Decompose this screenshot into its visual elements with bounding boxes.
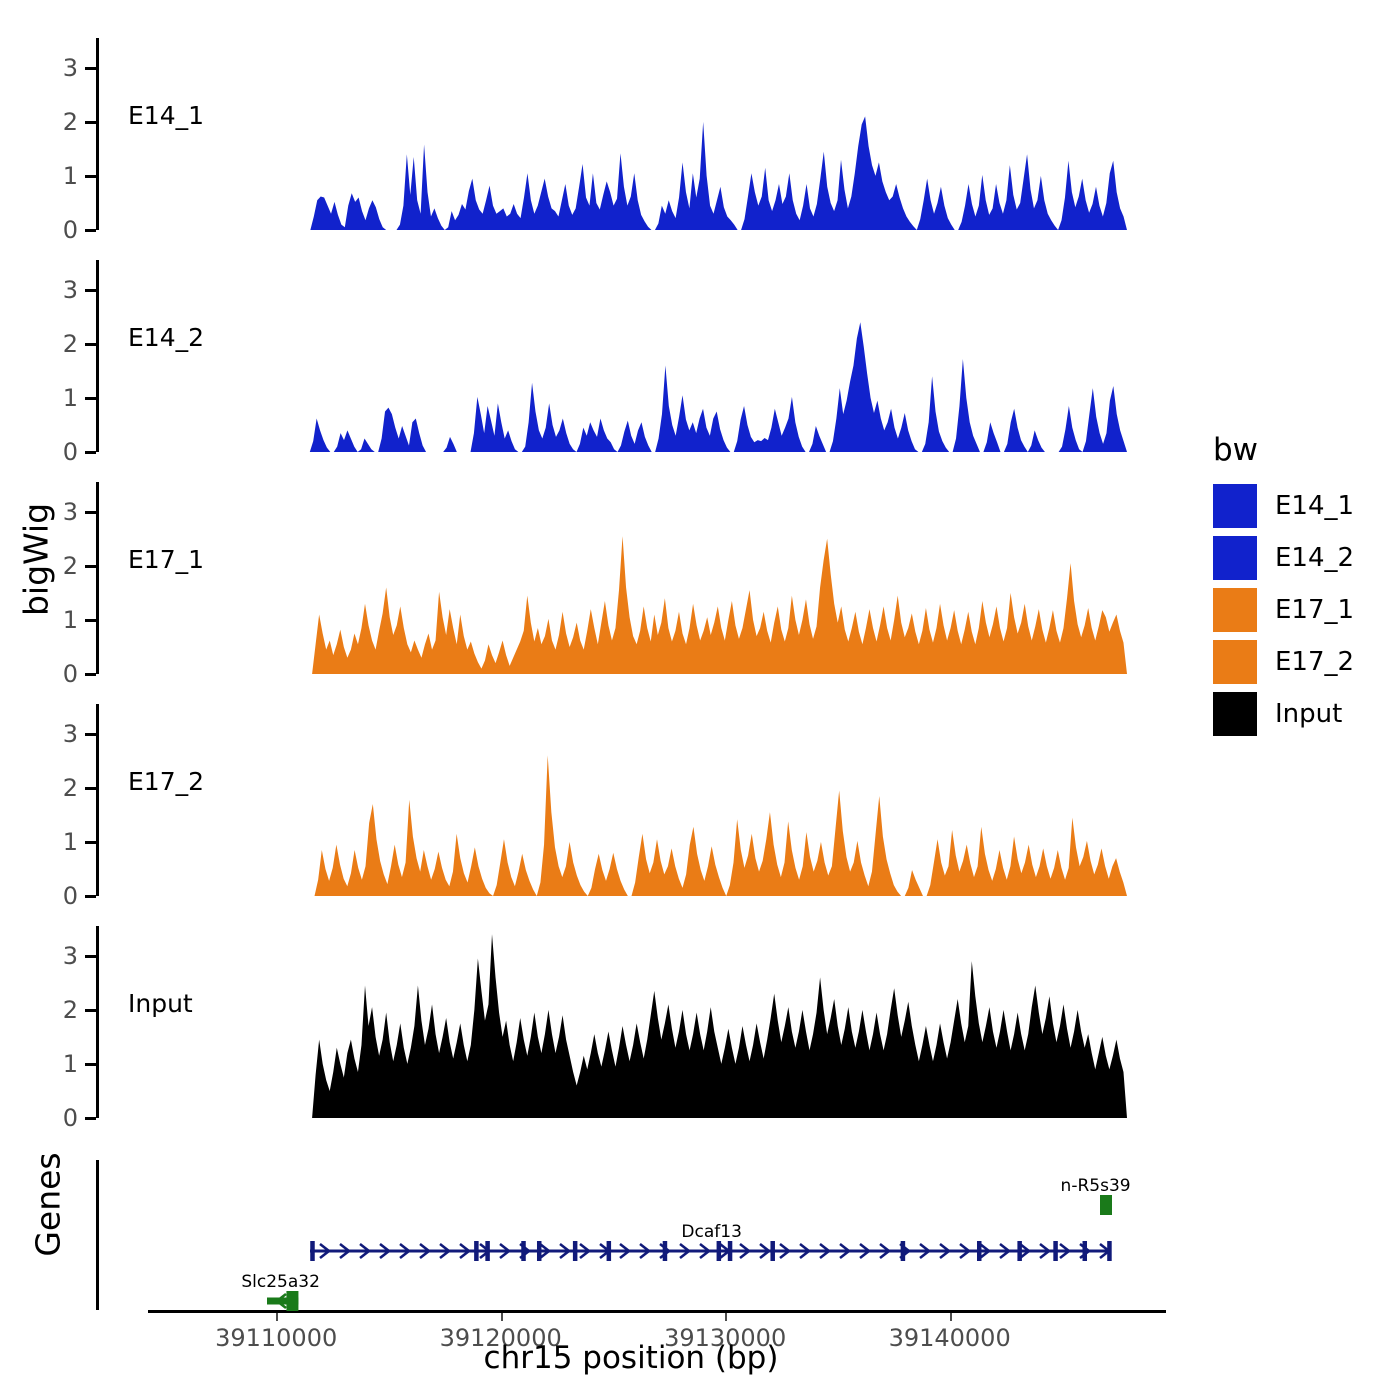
y-tick [85,673,96,676]
y-tick [85,619,96,622]
wig-track-e17_2: 0123E17_2 [96,704,1167,896]
x-tick [501,1313,503,1321]
exon-block [310,1241,314,1261]
exon-block [1082,1241,1087,1261]
y-axis-line [96,260,99,452]
wig-track-e17_1: 0123E17_1 [96,482,1167,674]
y-axis-line [96,482,99,674]
gene-label-dcaf13: Dcaf13 [681,1222,741,1242]
exon-block [900,1241,905,1261]
y-tick [85,511,96,514]
legend-swatch [1213,640,1257,684]
legend-title: bw [1213,432,1258,468]
exon-block [770,1241,775,1261]
y-tick [85,1009,96,1012]
y-axis-line [96,926,99,1118]
exon-block [977,1241,982,1261]
legend-swatch [1213,692,1257,736]
exon-block [1017,1241,1022,1261]
y-tick [85,1117,96,1120]
wig-area [238,116,1127,230]
y-tick-label: 3 [30,942,78,970]
y-tick-label: 1 [30,162,78,190]
track-label: Input [128,989,193,1018]
wig-track-e14_2: 0123E14_2 [96,260,1167,452]
wig-signal-e14_1 [238,38,1131,232]
exon-block [521,1241,526,1261]
x-axis-title: chr15 position (bp) [96,1340,1166,1376]
wig-track-e14_1: 0123E14_1 [96,38,1167,230]
y-tick-label: 2 [30,996,78,1024]
legend-label: E14_2 [1275,543,1354,573]
exon-block [485,1241,490,1261]
y-tick-label: 0 [30,1104,78,1132]
exon-block [537,1241,542,1261]
track-label: E14_1 [128,101,204,130]
y-tick-label: 2 [30,552,78,580]
y-tick [85,955,96,958]
y-tick-label: 3 [30,54,78,82]
wig-track-input: 0123Input [96,926,1167,1118]
wig-signal-input [238,926,1131,1120]
y-tick [85,841,96,844]
exon-block [287,1291,299,1311]
y-tick-label: 2 [30,774,78,802]
wig-signal-e14_2 [238,260,1131,454]
track-label: E17_1 [128,545,204,574]
track-label: E17_2 [128,767,204,796]
y-tick-label: 0 [30,882,78,910]
y-tick [85,733,96,736]
legend-swatch [1213,536,1257,580]
y-tick-label: 1 [30,828,78,856]
y-tick [85,1063,96,1066]
y-tick [85,451,96,454]
wig-signal-e17_2 [238,704,1131,898]
gene-label-n-r5s39: n-R5s39 [1061,1176,1131,1196]
legend-swatch [1213,484,1257,528]
wig-area [238,934,1127,1118]
y-tick [85,343,96,346]
y-tick-label: 0 [30,660,78,688]
x-tick [950,1313,952,1321]
x-tick [725,1313,727,1321]
y-tick [85,787,96,790]
exon-block [573,1241,578,1261]
gene-label-slc25a32: Slc25a32 [241,1272,320,1292]
y-tick [85,565,96,568]
y-axis-line [96,38,99,230]
exon-block [606,1241,611,1261]
y-tick-label: 1 [30,1050,78,1078]
legend-label: E17_2 [1275,647,1354,677]
y-tick [85,121,96,124]
legend-label: E17_1 [1275,595,1354,625]
genes-axis-line [96,1160,99,1310]
track-label: E14_2 [128,323,204,352]
exon-block [663,1241,668,1261]
y-tick [85,175,96,178]
legend-swatch [1213,588,1257,632]
y-tick-label: 1 [30,384,78,412]
exon-block [474,1241,479,1261]
genome-browser-figure: bigWig Genes 0123E14_10123E14_20123E17_1… [0,0,1400,1400]
wig-signal-e17_1 [238,482,1131,676]
y-tick-label: 2 [30,108,78,136]
exon-block [1100,1195,1112,1215]
y-tick [85,397,96,400]
exon-block [728,1241,733,1261]
y-tick-label: 3 [30,498,78,526]
wig-area [238,755,1127,896]
legend-label: E14_1 [1275,491,1354,521]
y-tick-label: 3 [30,720,78,748]
y-tick [85,67,96,70]
legend-label: Input [1275,699,1342,729]
y-tick-label: 3 [30,276,78,304]
y-tick-label: 0 [30,216,78,244]
exon-block [1053,1241,1058,1261]
exon-block [1107,1241,1112,1261]
genes-axis-title: Genes [29,1105,68,1305]
y-tick-label: 2 [30,330,78,358]
y-tick-label: 1 [30,606,78,634]
y-tick [85,895,96,898]
wig-area [238,536,1127,674]
exon-block [716,1241,721,1261]
y-tick-label: 0 [30,438,78,466]
y-axis-line [96,704,99,896]
x-tick [276,1313,278,1321]
y-tick [85,289,96,292]
y-tick [85,229,96,232]
wig-area [238,322,1127,452]
